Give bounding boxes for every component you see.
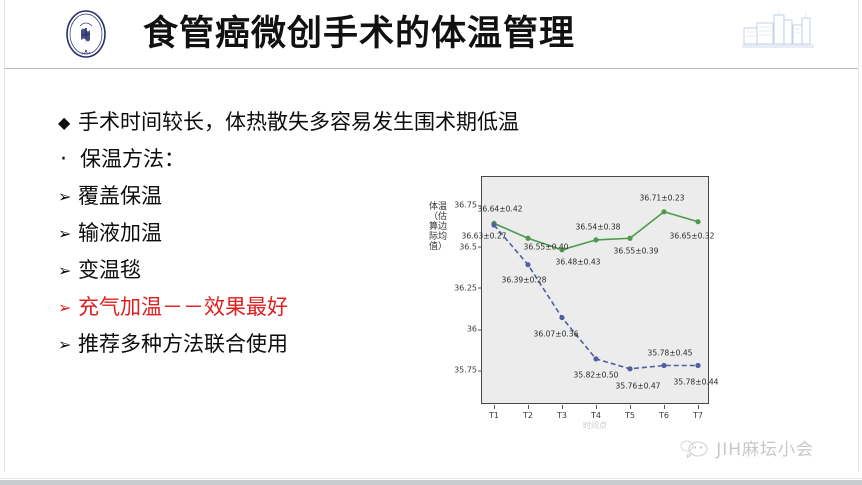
chart-data-label: 36.07±0.36 [533,329,578,338]
list-item-label: 覆盖保温 [78,178,448,215]
chart-data-point [525,262,530,267]
diamond-bullet-icon: ◆ [58,104,78,141]
list-item: ➢ 变温毯 [58,252,448,289]
chart-y-axis-title: 体温（估算边际均值） [428,202,448,252]
chart-x-tick-label: T1 [489,411,499,420]
list-item: ◆ 手术时间较长，体热散失多容易发生围术期低温 [58,104,448,141]
slide-canvas: 1957 食管癌微创手术的体温管理 [0,0,862,485]
list-item: ➢ 推荐多种方法联合使用 [58,326,448,363]
list-item-highlighted: ➢ 充气加温－－效果最好 [58,289,448,326]
arrow-bullet-icon: ➢ [58,252,78,289]
slide-frame-left [4,0,5,472]
chart-x-tick-label: T4 [591,411,601,420]
chart-data-label: 36.55±0.40 [523,243,568,252]
chart-data-label: 36.71±0.23 [639,193,684,202]
chat-bubble-icon [679,438,709,458]
arrow-bullet-icon: ➢ [58,326,78,363]
page-title: 食管癌微创手术的体温管理 [143,8,703,60]
list-item-label: 推荐多种方法联合使用 [78,326,448,363]
header-divider [5,68,858,69]
chart-data-point [661,209,666,214]
chart-y-tick-label: 36 [467,325,477,334]
list-item-label: 保温方法： [80,141,448,178]
list-item-label: 充气加温－－效果最好 [78,289,448,326]
chart-data-label: 35.78±0.45 [647,348,692,357]
list-item: · 保温方法： [58,141,448,178]
arrow-bullet-icon: ➢ [58,178,78,215]
chart-x-axis-title: 时间点 [481,420,709,431]
bullet-list: ◆ 手术时间较长，体热散失多容易发生围术期低温 · 保温方法： ➢ 覆盖保温 ➢… [58,104,448,363]
arrow-bullet-icon: ➢ [58,289,78,326]
chart-x-tick-label: T2 [523,411,533,420]
slide-frame-right [858,0,859,472]
chart-data-point [695,363,700,368]
chart-data-label: 35.78±0.44 [673,377,718,386]
chart-y-tick-label: 36.25 [454,283,477,292]
chart-x-tick-label: T7 [693,411,703,420]
chart-y-axis: 36.7536.536.253635.75 [447,168,481,404]
hospital-seal-icon: 1957 [60,8,112,60]
arrow-bullet-icon: ➢ [58,215,78,252]
chart-data-point [593,356,598,361]
svg-text:1957: 1957 [82,52,91,56]
chart-data-point [559,315,564,320]
chart-data-label: 36.54±0.38 [575,222,620,231]
chart-x-tick-label: T6 [659,411,669,420]
list-item: ➢ 覆盖保温 [58,178,448,215]
page-bottom-shadow [0,480,862,485]
temperature-line-chart: 体温（估算边际均值） 36.7536.536.253635.75 36.64±0… [428,168,710,420]
list-item-label: 输液加温 [78,215,448,252]
chart-data-point [627,236,632,241]
chart-data-point [593,237,598,242]
slide-frame-bottom [0,478,862,479]
chart-data-label: 36.64±0.42 [477,205,522,214]
slide-header: 1957 食管癌微创手术的体温管理 [5,0,858,69]
chart-data-label: 36.48±0.43 [555,257,600,266]
chart-plot-area: 36.64±0.4236.55±0.4036.48±0.4336.54±0.38… [481,176,709,404]
chart-data-label: 36.65±0.32 [669,231,714,240]
chart-data-point [661,363,666,368]
dot-bullet-icon: · [58,141,80,178]
chart-data-label: 35.76±0.47 [615,381,660,390]
chart-data-point [491,222,496,227]
chart-y-tick-label: 36.5 [459,242,477,251]
chart-x-tick-label: T5 [625,411,635,420]
chart-data-point [695,219,700,224]
chart-data-point [627,366,632,371]
watermark-label: JIH麻坛小会 [716,435,814,460]
chart-data-label: 36.63±0.27 [461,232,506,241]
watermark: JIH麻坛小会 [679,435,814,460]
list-item: ➢ 输液加温 [58,215,448,252]
list-item-label: 变温毯 [78,252,448,289]
chart-data-label: 36.55±0.39 [613,247,658,256]
chart-data-point [525,236,530,241]
chart-y-tick-label: 35.75 [454,366,477,375]
chart-data-label: 36.39±0.28 [501,275,546,284]
chart-y-tick-label: 36.75 [454,201,477,210]
building-skyline-icon [740,6,818,52]
chart-x-tick-label: T3 [557,411,567,420]
list-item-label: 手术时间较长，体热散失多容易发生围术期低温 [78,104,519,141]
chart-data-label: 35.82±0.50 [573,370,618,379]
